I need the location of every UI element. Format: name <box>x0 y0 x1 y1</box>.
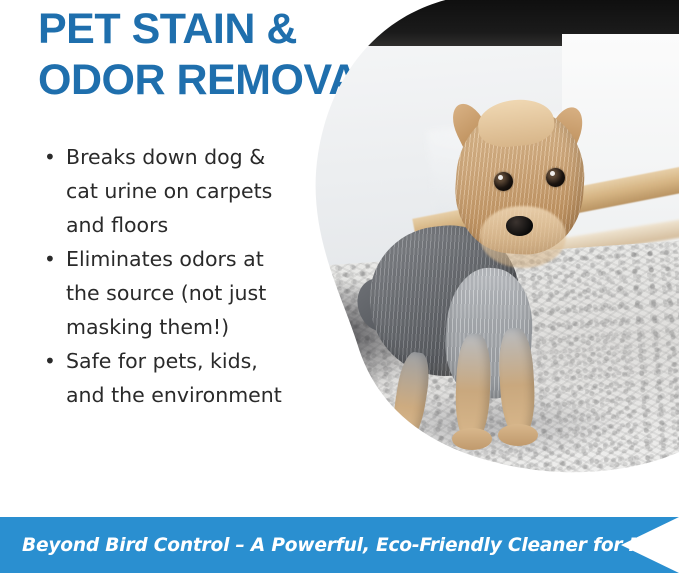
dog-illustration <box>360 98 610 458</box>
list-item: • Breaks down dog & cat urine on carpets… <box>38 140 298 242</box>
dog-eye-right <box>546 168 565 187</box>
list-item-text: Breaks down dog & cat urine on carpets a… <box>66 145 272 237</box>
tagline-text: Beyond Bird Control – A Powerful, Eco-Fr… <box>22 517 679 573</box>
dog-hind-paw <box>390 436 426 456</box>
bullet-marker: • <box>44 140 56 174</box>
dog-front-paw-right <box>498 424 538 446</box>
dog-eye-glint-left <box>498 175 503 180</box>
bullet-marker: • <box>44 242 56 276</box>
dog-eye-left <box>494 172 513 191</box>
list-item-text: Eliminates odors at the source (not just… <box>66 247 266 339</box>
bullet-marker: • <box>44 344 56 378</box>
list-item: • Eliminates odors at the source (not ju… <box>38 242 298 344</box>
product-feature-card: PET STAIN & ODOR REMOVAL • Breaks down d… <box>0 0 679 573</box>
list-item: • Safe for pets, kids, and the environme… <box>38 344 298 412</box>
dog-front-paw-left <box>452 428 492 450</box>
list-item-text: Safe for pets, kids, and the environment <box>66 349 282 407</box>
feature-list: • Breaks down dog & cat urine on carpets… <box>38 140 298 412</box>
dog-hind-leg <box>389 350 433 446</box>
dog-nose <box>506 216 533 236</box>
dog-eye-glint-right <box>550 171 555 176</box>
